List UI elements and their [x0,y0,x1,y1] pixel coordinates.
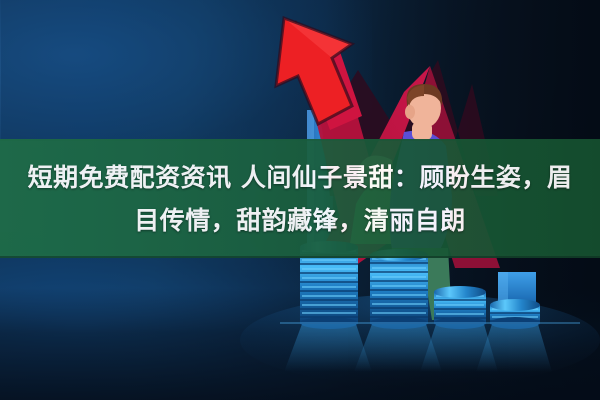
floor-light-beams [284,324,552,372]
headline-line-2: 目传情，甜韵藏锋，清丽自朗 [20,199,580,242]
page-title: 短期免费配资资讯 人间仙子景甜：顾盼生姿，眉 目传情，甜韵藏锋，清丽自朗 [20,156,580,242]
coin-stack-2 [370,249,428,329]
promo-banner-image: 短期免费配资资讯 人间仙子景甜：顾盼生姿，眉 目传情，甜韵藏锋，清丽自朗 [0,0,600,400]
figure-ear [405,105,415,119]
headline-line-1: 短期免费配资资讯 人间仙子景甜：顾盼生姿，眉 [20,156,580,199]
banner-bottom-edge [0,256,600,258]
floor-line [280,322,580,324]
headline-banner: 短期免费配资资讯 人间仙子景甜：顾盼生姿，眉 目传情，甜韵藏锋，清丽自朗 [0,139,600,258]
